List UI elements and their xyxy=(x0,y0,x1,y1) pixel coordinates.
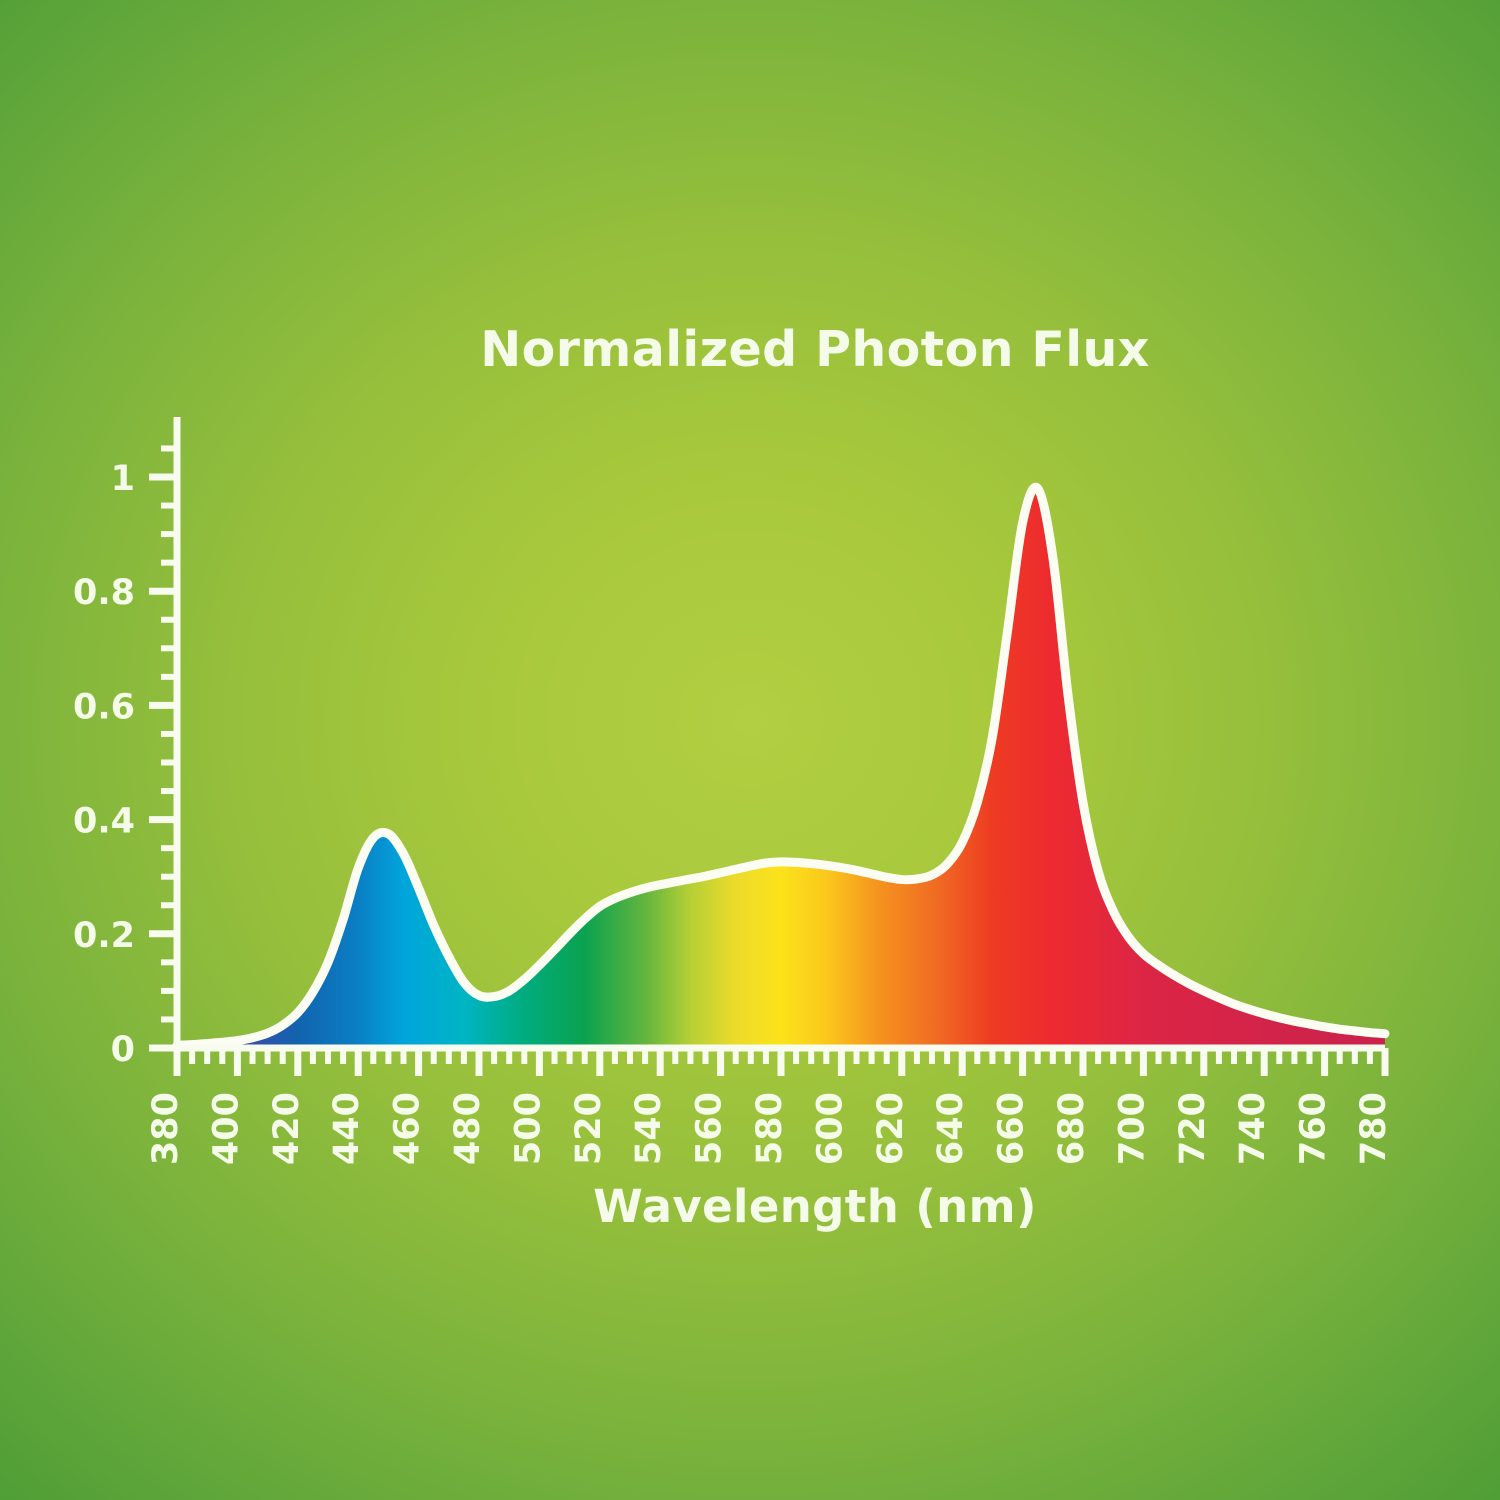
x-tick-label: 460 xyxy=(388,1092,428,1165)
x-axis-title: Wavelength (nm) xyxy=(593,1180,1037,1233)
x-tick-label: 520 xyxy=(569,1092,609,1165)
x-tick-label: 600 xyxy=(810,1092,850,1165)
x-tick-label: 560 xyxy=(690,1092,730,1165)
y-tick-label: 0.6 xyxy=(73,687,135,727)
spectrum-area-fill xyxy=(177,487,1385,1048)
y-axis-tick-labels: 00.20.40.60.81 xyxy=(73,459,135,1070)
spectrum-chart: 00.20.40.60.81 3804004204404604805005205… xyxy=(0,0,1500,1500)
y-axis-ticks xyxy=(149,448,177,1048)
x-tick-label: 660 xyxy=(992,1092,1032,1165)
x-tick-label: 420 xyxy=(267,1092,307,1165)
x-tick-label: 380 xyxy=(146,1092,186,1165)
y-tick-label: 0.8 xyxy=(73,573,135,613)
y-tick-label: 0 xyxy=(111,1030,135,1070)
x-tick-label: 740 xyxy=(1233,1092,1273,1165)
x-axis-ticks xyxy=(177,1048,1385,1076)
x-tick-label: 760 xyxy=(1294,1092,1334,1165)
x-tick-label: 640 xyxy=(931,1092,971,1165)
figure-canvas: 00.20.40.60.81 3804004204404604805005205… xyxy=(0,0,1500,1500)
x-tick-label: 720 xyxy=(1173,1092,1213,1165)
x-axis-tick-labels: 3804004204404604805005205405605806006206… xyxy=(146,1092,1394,1165)
x-tick-label: 540 xyxy=(629,1092,669,1165)
x-tick-label: 580 xyxy=(750,1092,790,1165)
x-tick-label: 700 xyxy=(1112,1092,1152,1165)
x-tick-label: 620 xyxy=(871,1092,911,1165)
chart-title: Normalized Photon Flux xyxy=(480,321,1150,378)
y-tick-label: 0.4 xyxy=(73,802,135,842)
x-tick-label: 500 xyxy=(508,1092,548,1165)
x-tick-label: 780 xyxy=(1354,1092,1394,1165)
x-tick-label: 680 xyxy=(1052,1092,1092,1165)
x-tick-label: 480 xyxy=(448,1092,488,1165)
x-tick-label: 400 xyxy=(206,1092,246,1165)
y-tick-label: 0.2 xyxy=(73,916,135,956)
y-tick-label: 1 xyxy=(111,459,135,499)
x-tick-label: 440 xyxy=(327,1092,367,1165)
